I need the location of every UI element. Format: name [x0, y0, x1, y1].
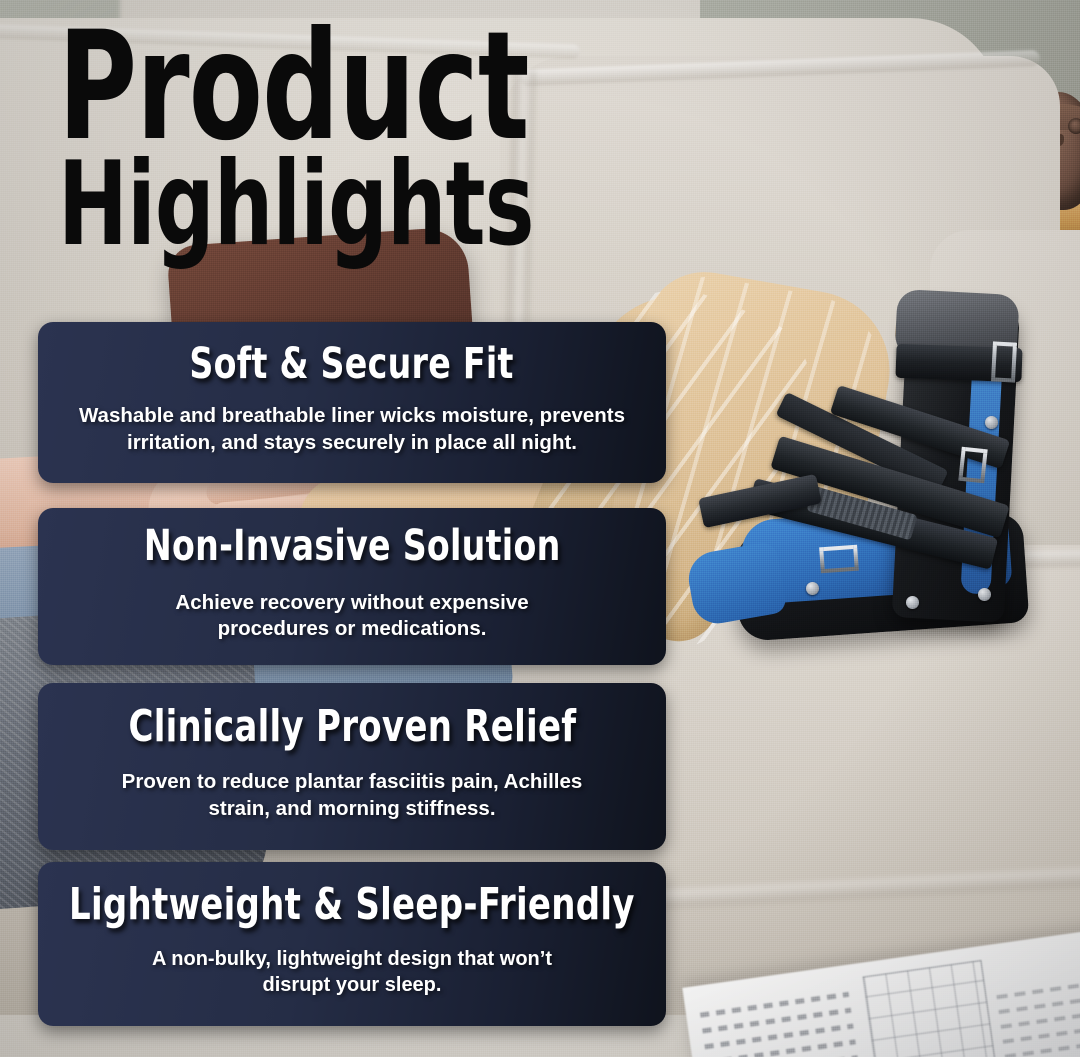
highlight-card-1-title: Soft & Secure Fit: [190, 343, 514, 386]
highlight-card-2: Non-Invasive Solution Achieve recovery w…: [38, 508, 666, 665]
page-title-line-2: Highlights: [58, 156, 534, 253]
highlight-card-4-body: A non-bulky, lightweight design that won…: [127, 947, 577, 998]
highlight-card-4: Lightweight & Sleep-Friendly A non-bulky…: [38, 862, 666, 1026]
product-highlights-graphic: Product Highlights Soft & Secure Fit Was…: [0, 0, 1080, 1057]
highlight-card-1-body: Washable and breathable liner wicks mois…: [64, 403, 640, 455]
highlight-card-3-title: Clinically Proven Relief: [128, 705, 576, 749]
page-title: Product Highlights: [58, 24, 653, 253]
highlight-card-1: Soft & Secure Fit Washable and breathabl…: [38, 322, 666, 483]
highlight-card-2-body: Achieve recovery without expensive proce…: [152, 590, 552, 642]
page-title-line-1: Product: [58, 24, 534, 150]
highlight-card-2-title: Non-Invasive Solution: [144, 525, 561, 568]
highlight-card-3-body: Proven to reduce plantar fasciitis pain,…: [92, 769, 612, 821]
highlight-card-4-title: Lightweight & Sleep-Friendly: [69, 883, 635, 927]
highlight-card-3: Clinically Proven Relief Proven to reduc…: [38, 683, 666, 850]
